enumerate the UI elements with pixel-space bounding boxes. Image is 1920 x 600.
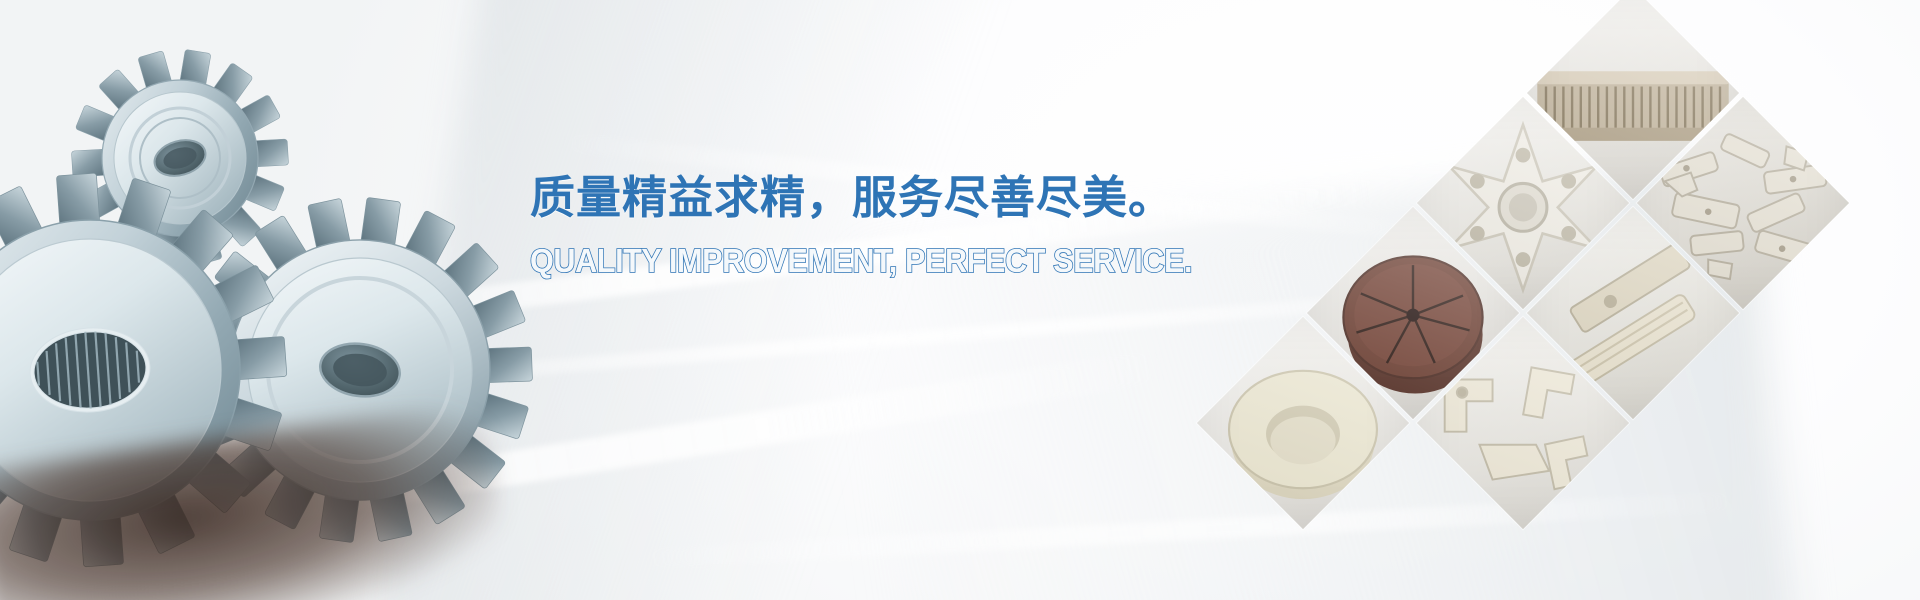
subheadline-english: QUALITY IMPROVEMENT, PERFECT SERVICE. — [530, 242, 1237, 280]
product-photo-diamond-collage — [1330, 0, 1920, 600]
banner-copy: 质量精益求精，服务尽善尽美。 QUALITY IMPROVEMENT, PERF… — [530, 170, 1290, 280]
metal-gears-illustration — [0, 40, 620, 600]
hero-banner: 质量精益求精，服务尽善尽美。 QUALITY IMPROVEMENT, PERF… — [0, 0, 1920, 600]
headline-chinese: 质量精益求精，服务尽善尽美。 — [530, 170, 1290, 226]
